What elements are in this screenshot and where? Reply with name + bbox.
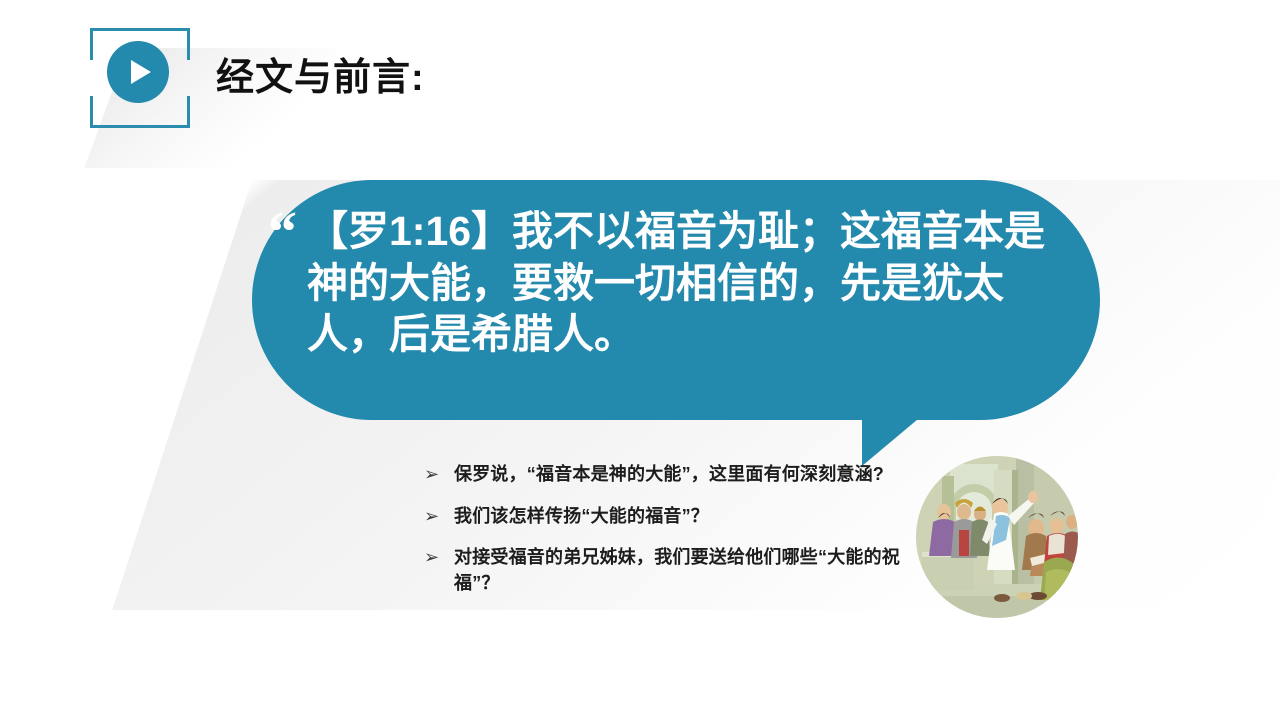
arrow-bullet-icon: ➢ [424, 504, 454, 530]
list-item: ➢ 我们该怎样传扬“大能的福音”？ [424, 504, 910, 530]
page-title: 经文与前言: [216, 46, 425, 101]
list-item-label: 对接受福音的弟兄姊妹，我们要送给他们哪些“大能的祝福”？ [454, 545, 910, 596]
list-item: ➢ 对接受福音的弟兄姊妹，我们要送给他们哪些“大能的祝福”？ [424, 545, 910, 596]
play-triangle-icon [131, 60, 151, 84]
slide-canvas: 经文与前言: “ 【罗1:16】我不以福音为耻；这福音本是 神的大能，要救一切相… [0, 0, 1280, 720]
quote-text: 【罗1:16】我不以福音为耻；这福音本是 神的大能，要救一切相信的，先是犹太人，… [307, 206, 1068, 361]
arrow-bullet-icon: ➢ [424, 545, 454, 571]
arrow-bullet-icon: ➢ [424, 462, 454, 488]
list-item-label: 保罗说，“福音本是神的大能”，这里面有何深刻意涵? [454, 462, 910, 488]
paul-preaching-illustration [916, 456, 1078, 618]
question-list: ➢ 保罗说，“福音本是神的大能”，这里面有何深刻意涵? ➢ 我们该怎样传扬“大能… [424, 462, 910, 596]
list-item: ➢ 保罗说，“福音本是神的大能”，这里面有何深刻意涵? [424, 462, 910, 488]
quote-bubble-tail [862, 414, 924, 466]
quote-content: “ 【罗1:16】我不以福音为耻；这福音本是 神的大能，要救一切相信的，先是犹太… [268, 206, 1068, 361]
list-item-label: 我们该怎样传扬“大能的福音”？ [454, 504, 910, 530]
quote-mark-icon: “ [268, 206, 297, 258]
